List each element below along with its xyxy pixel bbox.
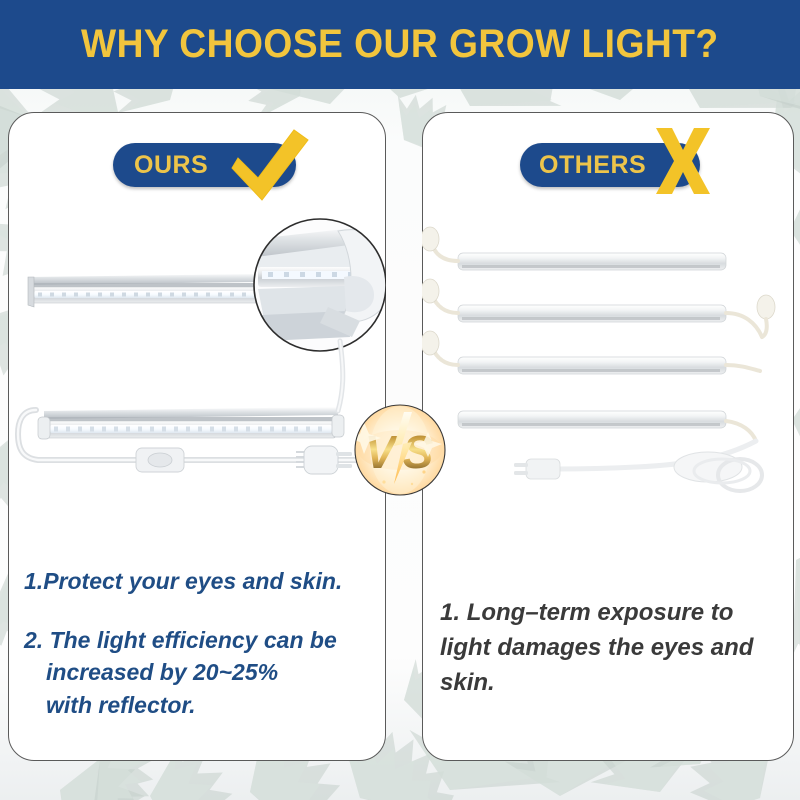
- others-product-illustration: [422, 225, 794, 535]
- plain-tube-2: [422, 279, 775, 337]
- coiled-power-cord: [514, 441, 762, 491]
- ours-bullet-2-line1: The light efficiency can be: [50, 627, 337, 653]
- ours-bullet-1: 1.Protect your eyes and skin.: [24, 565, 364, 598]
- plain-tube-1: [422, 227, 726, 270]
- ours-bullet-1-text: Protect your eyes and skin.: [43, 568, 342, 594]
- ours-power-cord-illustration: [8, 400, 386, 520]
- others-bullet-1-line2: light damages the eyes and: [440, 631, 770, 666]
- others-drawback-list: 1. Long–term exposure to light damages t…: [440, 596, 770, 700]
- versus-badge: V S: [354, 404, 446, 496]
- ours-badge-label: OURS: [134, 151, 208, 180]
- header-band: WHY CHOOSE OUR GROW LIGHT?: [0, 0, 800, 89]
- ours-benefit-list: 1.Protect your eyes and skin. 2. The lig…: [24, 565, 364, 722]
- others-bullet-1-line1: Long–term exposure to: [467, 599, 734, 626]
- plain-tube-3: [422, 331, 760, 374]
- others-badge-label: OTHERS: [539, 151, 646, 180]
- svg-text:V: V: [365, 426, 399, 478]
- ours-bullet-2-number: 2.: [24, 627, 43, 653]
- page-title: WHY CHOOSE OUR GROW LIGHT?: [81, 22, 719, 67]
- others-badge: OTHERS: [520, 143, 700, 187]
- others-bullet-1-number: 1.: [440, 599, 460, 626]
- ours-bullet-2-line3: with reflector.: [24, 689, 364, 722]
- plain-tube-4: [458, 411, 756, 441]
- ours-badge: OURS: [113, 143, 296, 187]
- reflector-closeup-inset: [248, 215, 386, 355]
- ours-bullet-2-line2: increased by 20~25%: [24, 656, 364, 689]
- infographic-page: WHY CHOOSE OUR GROW LIGHT?: [0, 0, 800, 800]
- inline-rocker-switch: [136, 448, 184, 472]
- others-bullet-1-line3: skin.: [440, 666, 770, 701]
- others-bullet-1: 1. Long–term exposure to light damages t…: [440, 596, 770, 700]
- ours-bullet-1-number: 1.: [24, 568, 43, 594]
- others-power-plug: [514, 459, 560, 479]
- ours-bullet-2: 2. The light efficiency can be increased…: [24, 624, 364, 722]
